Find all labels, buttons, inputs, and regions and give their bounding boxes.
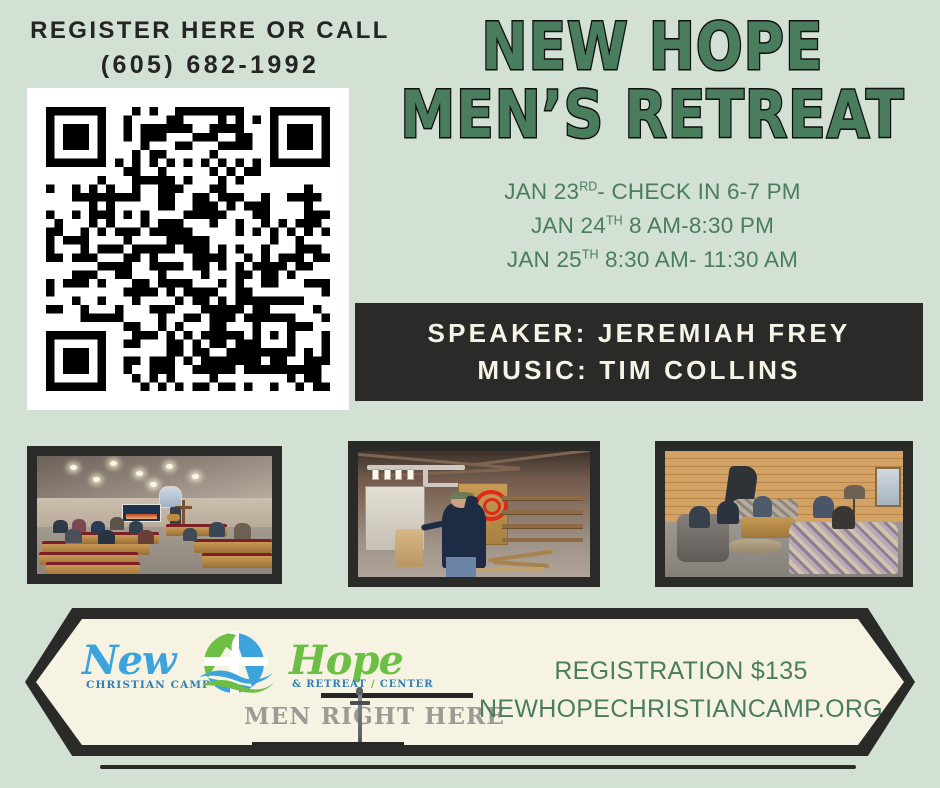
- chapel-service-photo: [27, 446, 282, 584]
- flyer-canvas: REGISTER HERE OR CALL (605) 682-1992 NEW…: [0, 0, 940, 788]
- phone-number: (605) 682-1992: [0, 48, 420, 84]
- title-line-1: NEW HOPE: [380, 16, 925, 80]
- qr-code-panel[interactable]: [27, 88, 349, 410]
- speaker-banner: SPEAKER: JEREMIAH FREY MUSIC: TIM COLLIN…: [355, 303, 923, 401]
- logo-christian-camp-text: CHRISTIAN CAMP: [86, 679, 211, 691]
- qr-code-icon[interactable]: [46, 107, 330, 391]
- men-right-here-logo: MEN RIGHT HERE: [244, 677, 479, 749]
- registration-price: REGISTRATION $135: [466, 653, 896, 691]
- axe-throwing-photo: [348, 441, 600, 587]
- logo-new-text: New: [82, 637, 175, 684]
- music-line: MUSIC: TIM COLLINS: [477, 352, 800, 389]
- schedule-item-2: JAN 24TH 8 AM-8:30 PM: [380, 209, 925, 243]
- page-title: NEW HOPE MEN’S RETREAT: [380, 16, 925, 149]
- registration-website[interactable]: NEWHOPECHRISTIANCAMP.ORG: [466, 691, 896, 729]
- schedule-list: JAN 23RD- CHECK IN 6-7 PM JAN 24TH 8 AM-…: [380, 175, 925, 278]
- registration-info: REGISTRATION $135 NEWHOPECHRISTIANCAMP.O…: [466, 653, 896, 728]
- bottom-divider: [100, 765, 856, 769]
- bottom-banner: New CHRISTIAN CAMP Hope & RET: [25, 608, 915, 756]
- camp-logo: New CHRISTIAN CAMP Hope & RET: [76, 635, 476, 753]
- title-line-2: MEN’S RETREAT: [380, 84, 925, 148]
- schedule-item-1: JAN 23RD- CHECK IN 6-7 PM: [380, 175, 925, 209]
- register-header-line1: REGISTER HERE OR CALL: [30, 17, 390, 44]
- speaker-line: SPEAKER: JEREMIAH FREY: [428, 315, 851, 352]
- sword-icon: [358, 687, 362, 747]
- schedule-item-3: JAN 25TH 8:30 AM- 11:30 AM: [380, 243, 925, 277]
- mrh-bar-top: [321, 693, 473, 698]
- register-header: REGISTER HERE OR CALL (605) 682-1992: [0, 14, 420, 84]
- cabin-lounge-photo: [655, 441, 913, 587]
